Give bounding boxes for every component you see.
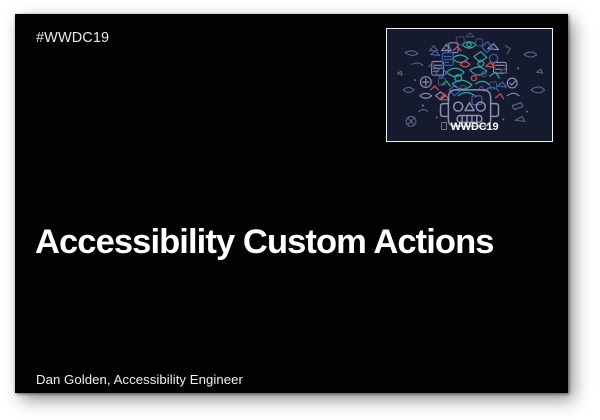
wwdc19-wordmark-text: WWDC19: [451, 122, 499, 133]
wwdc19-artwork:  WWDC19: [386, 28, 553, 142]
slide-title: Accessibility Custom Actions: [35, 222, 555, 262]
session-hashtag: #WWDC19: [36, 30, 109, 46]
wwdc19-wordmark:  WWDC19: [387, 122, 552, 133]
apple-logo-icon: : [441, 122, 449, 132]
presentation-slide: #WWDC19: [15, 14, 568, 393]
slide-presenter: Dan Golden, Accessibility Engineer: [36, 372, 243, 387]
screenshot-canvas: #WWDC19: [0, 0, 600, 420]
